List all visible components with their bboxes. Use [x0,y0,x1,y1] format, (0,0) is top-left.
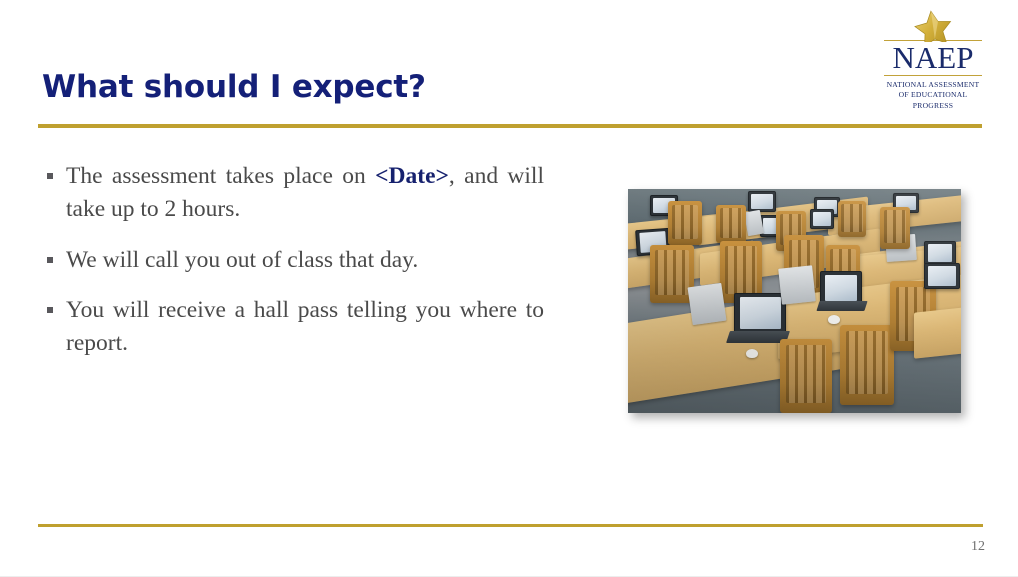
list-item: The assessment takes place on <Date>, an… [44,160,544,227]
tablet-device [924,241,956,265]
photo-scene [628,189,961,413]
bullet-text-lead: We will call you out of class that day. [66,247,418,273]
tablet-kickstand [778,265,816,304]
naep-subtitle: NATIONAL ASSESSMENT OF EDUCATIONAL PROGR… [884,80,982,111]
table [914,305,961,358]
naep-subtitle-line-3: PROGRESS [884,101,982,111]
presentation-slide: What should I expect? The assessment tak… [0,0,1018,577]
list-item: You will receive a hall pass telling you… [44,294,544,361]
naep-wordmark: NAEP [884,40,982,76]
mouse [746,349,758,358]
chair [880,207,910,249]
naep-logo: NAEP NATIONAL ASSESSMENT OF EDUCATIONAL … [884,10,982,115]
naep-subtitle-line-1: NATIONAL ASSESSMENT [884,80,982,90]
page-number: 12 [971,539,985,555]
tablet-device [810,209,834,229]
date-placeholder-token: <Date> [375,163,449,189]
keyboard [816,301,867,311]
chair [650,245,694,303]
chair [668,201,702,245]
bullet-text-lead: You will receive a hall pass telling you… [66,297,544,356]
chair [780,339,832,413]
chair [840,325,894,405]
page-title: What should I expect? [42,69,426,105]
naep-subtitle-line-2: OF EDUCATIONAL [884,90,982,100]
photo-image [628,189,961,413]
footer-divider-rule [38,524,983,527]
list-item: We will call you out of class that day. [44,244,544,277]
tablet-device [924,263,960,289]
title-divider-rule [38,124,982,128]
tablet-device [748,191,776,212]
chair [716,205,746,243]
gold-star-icon [884,10,982,42]
mouse [828,315,840,324]
chair [838,201,866,237]
bullet-text-lead: The assessment takes place on [66,163,375,189]
tablet-device [734,293,786,333]
tablet-kickstand [688,283,727,325]
bullet-list: The assessment takes place on <Date>, an… [44,160,544,361]
tablet-device [820,271,862,305]
classroom-photo [628,189,961,413]
